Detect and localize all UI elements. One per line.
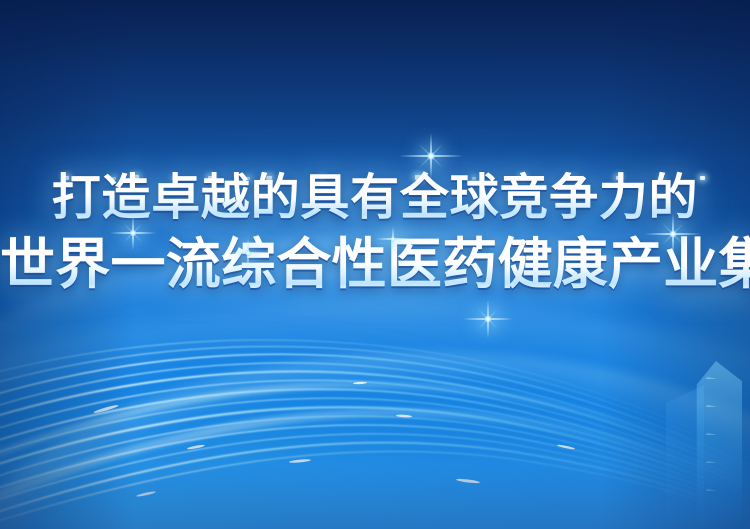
headline-line-1: 打造卓越的具有全球竞争力的 — [0, 168, 750, 226]
headline-block: 打造卓越的具有全球竞争力的 世界一流综合性医药健康产业集团 — [0, 168, 750, 296]
headline-line-2: 世界一流综合性医药健康产业集团 — [0, 232, 750, 296]
banner-image: 打造卓越的具有全球竞争力的 世界一流综合性医药健康产业集团 — [0, 0, 750, 529]
